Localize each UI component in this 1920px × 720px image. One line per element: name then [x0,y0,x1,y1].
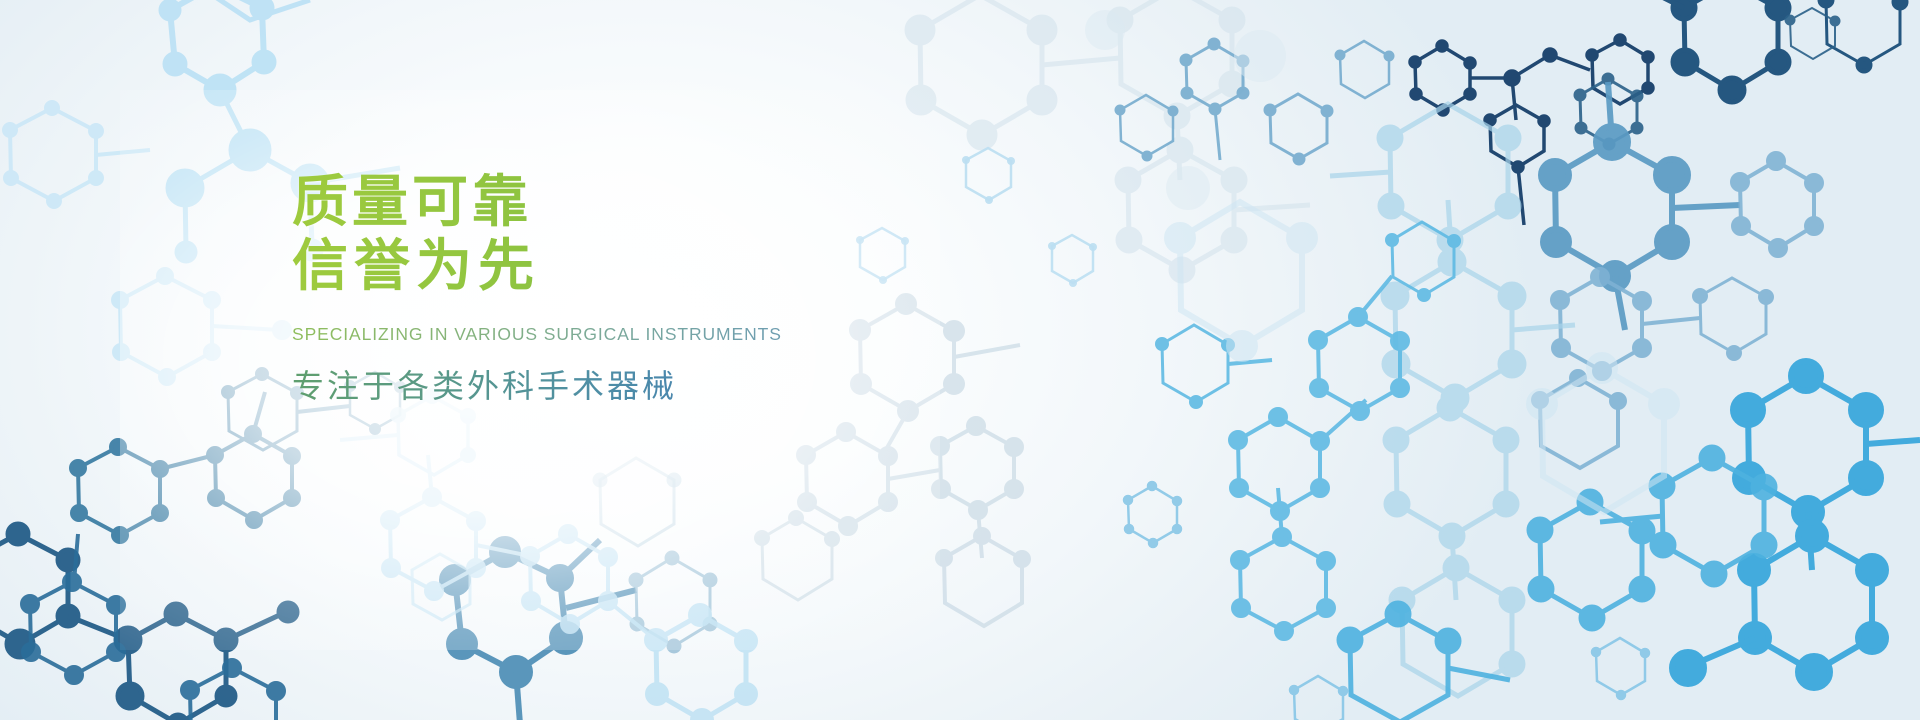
subtitle-chinese: 专注于各类外科手术器械 [292,361,992,407]
headline-line-1: 质量可靠 [292,170,992,234]
banner-text-block: 质量可靠 信誉为先 SPECIALIZING IN VARIOUS SURGIC… [292,170,992,407]
headline-line-2: 信誉为先 [292,234,992,298]
subtitle-english: SPECIALIZING IN VARIOUS SURGICAL INSTRUM… [292,324,992,345]
hero-banner: 质量可靠 信誉为先 SPECIALIZING IN VARIOUS SURGIC… [0,0,1920,720]
